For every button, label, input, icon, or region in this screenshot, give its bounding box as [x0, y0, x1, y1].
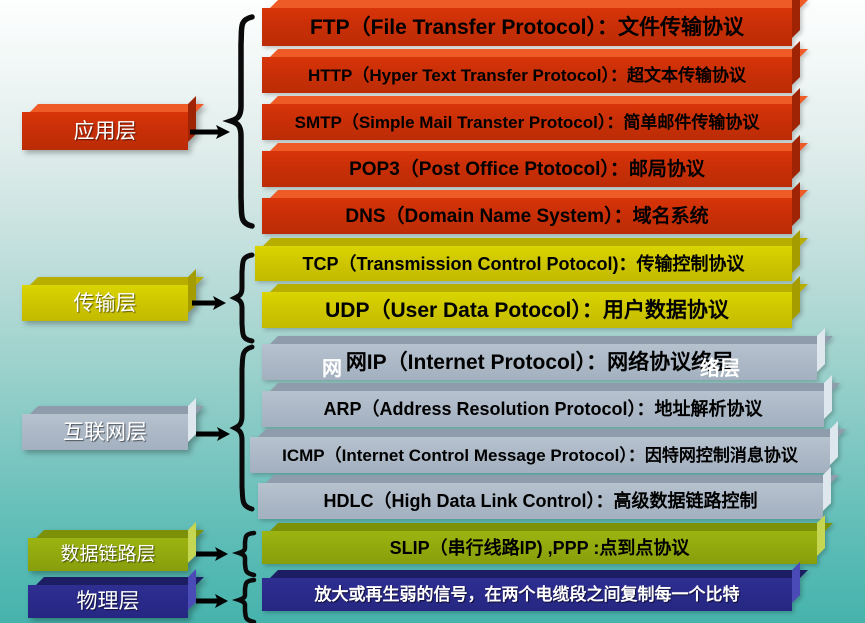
layer-label-datalink[interactable]: 数据链路层	[28, 538, 188, 571]
protocol-label: SMTP（Simple Mail Transter Protocol）：简单邮件…	[295, 114, 760, 131]
protocol-bar-smtp[interactable]: SMTP（Simple Mail Transter Protocol）：简单邮件…	[262, 104, 792, 140]
layer-label-text: 传输层	[74, 293, 137, 314]
layer-label-text: 数据链路层	[60, 545, 155, 564]
protocol-bar-pop3[interactable]: POP3（Post Office Ptotocol）：邮局协议	[262, 151, 792, 187]
layer-label-text: 互联网层	[63, 422, 147, 443]
arrow-application	[190, 122, 232, 142]
protocol-bar-dns[interactable]: DNS（Domain Name System）：域名系统	[262, 198, 792, 234]
protocol-label: UDP（User Data Potocol）：用户数据协议	[325, 300, 729, 321]
layer-label-application[interactable]: 应用层	[22, 112, 188, 150]
brace-transport	[232, 252, 258, 344]
protocol-bar-slip-ppp[interactable]: SLIP（串行线路IP) ,PPP :点到点协议	[262, 531, 817, 564]
protocol-label: 放大或再生弱的信号，在两个电缆段之间复制每一个比特	[315, 586, 740, 603]
arrow-datalink	[196, 544, 230, 564]
protocol-bar-ftp[interactable]: FTP（File Transfer Protocol）：文件传输协议	[262, 8, 792, 46]
protocol-bar-hdlc[interactable]: HDLC（High Data Link Control）：高级数据链路控制	[258, 483, 823, 519]
arrow-transport	[192, 293, 228, 313]
protocol-label: ICMP（Internet Control Message Protocol）：…	[282, 447, 798, 464]
layer-label-text: 应用层	[74, 121, 137, 142]
brace-application	[228, 14, 258, 229]
layer-label-internet[interactable]: 互联网层	[22, 414, 188, 450]
protocol-bar-arp[interactable]: ARP（Address Resolution Protocol）：地址解析协议	[262, 391, 824, 427]
brace-datalink	[236, 530, 260, 578]
protocol-label: ARP（Address Resolution Protocol）：地址解析协议	[323, 400, 762, 418]
protocol-label: POP3（Post Office Ptotocol）：邮局协议	[349, 160, 705, 179]
layer-label-physical[interactable]: 物理层	[28, 585, 188, 618]
protocol-bar-icmp[interactable]: ICMP（Internet Control Message Protocol）：…	[250, 437, 830, 473]
diagram-canvas: 应用层 FTP（File Transfer Protocol）：文件传输协议 H…	[0, 0, 865, 623]
protocol-label: 网IP（Internet Protocol）：网络协议络层	[346, 352, 733, 373]
brace-internet	[232, 344, 258, 512]
layer-label-text: 物理层	[77, 591, 140, 612]
layer-label-transport[interactable]: 传输层	[22, 285, 188, 321]
protocol-label: HTTP（Hyper Text Transfer Protocol）：超文本传输…	[308, 67, 746, 84]
brace-physical	[236, 577, 260, 623]
protocol-label: FTP（File Transfer Protocol）：文件传输协议	[310, 17, 744, 38]
arrow-internet	[196, 424, 232, 444]
protocol-label: DNS（Domain Name System）：域名系统	[345, 207, 708, 226]
protocol-bar-tcp[interactable]: TCP（Transmission Control Potocol)：传输控制协议	[255, 246, 792, 281]
protocol-bar-udp[interactable]: UDP（User Data Potocol）：用户数据协议	[262, 292, 792, 328]
protocol-label: HDLC（High Data Link Control）：高级数据链路控制	[324, 492, 758, 510]
protocol-bar-ip[interactable]: 网IP（Internet Protocol）：网络协议络层	[262, 344, 817, 380]
arrow-physical	[196, 591, 230, 611]
protocol-label: SLIP（串行线路IP) ,PPP :点到点协议	[390, 539, 690, 557]
protocol-bar-physical-desc[interactable]: 放大或再生弱的信号，在两个电缆段之间复制每一个比特	[262, 578, 792, 611]
protocol-label: TCP（Transmission Control Potocol)：传输控制协议	[302, 255, 744, 273]
protocol-bar-http[interactable]: HTTP（Hyper Text Transfer Protocol）：超文本传输…	[262, 57, 792, 93]
